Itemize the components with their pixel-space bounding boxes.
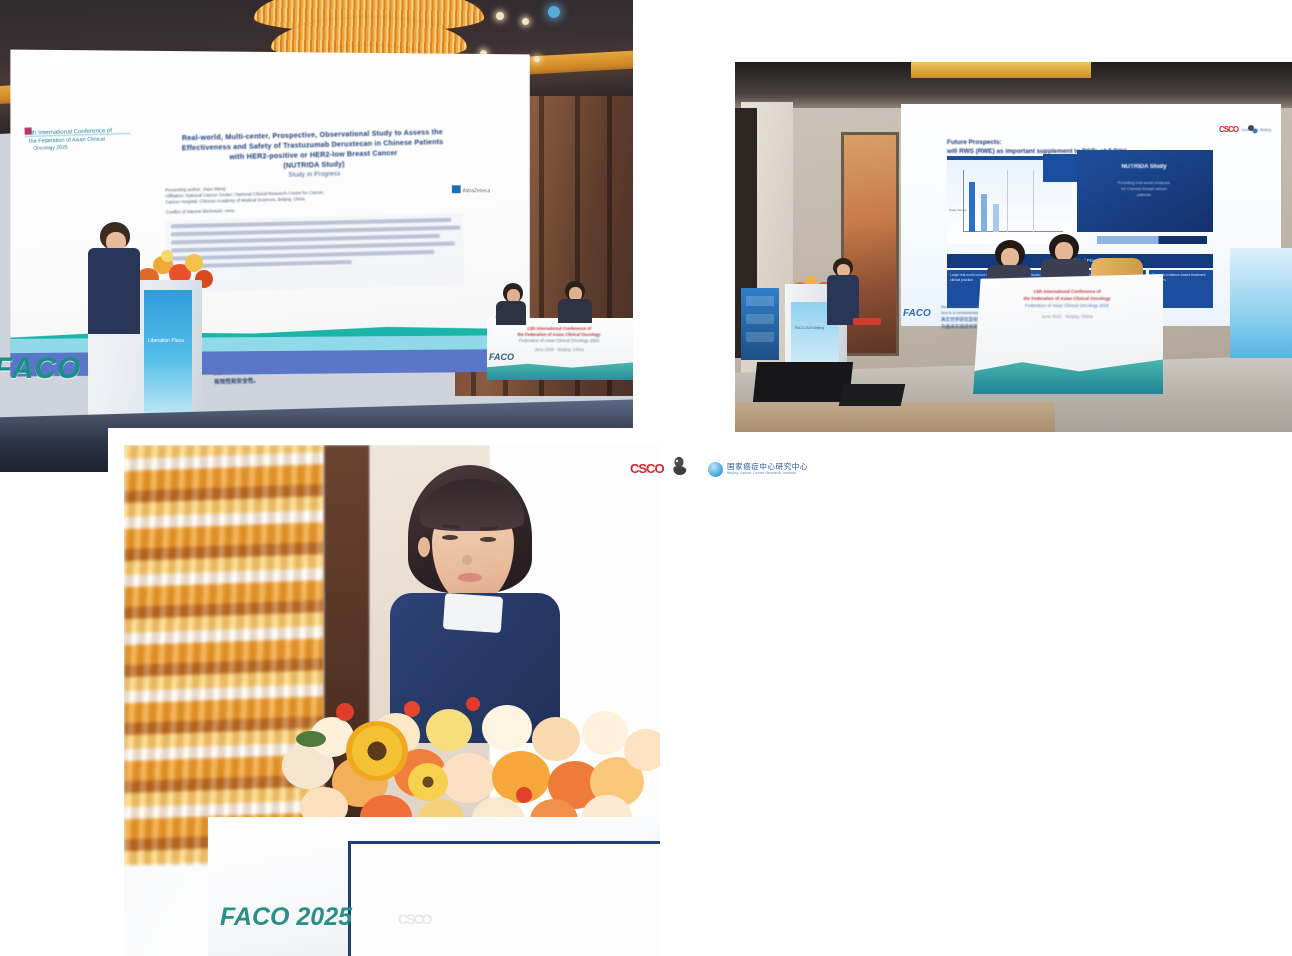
panel-table-2-wave bbox=[973, 352, 1163, 394]
svg-text:CSCO: CSCO bbox=[1219, 125, 1239, 134]
sunflower-small bbox=[408, 763, 448, 801]
lips bbox=[458, 573, 482, 582]
csco-wordmark-lectern: CSCO bbox=[398, 910, 468, 928]
ceiling-spot bbox=[522, 18, 529, 25]
lectern-panel: Liberation Plaza bbox=[144, 290, 192, 415]
slide-meta: Presenting author: Jiayu Wang Affiliatio… bbox=[165, 181, 464, 216]
photo-speaker-portrait: FACO 2025 CSCO bbox=[124, 445, 660, 956]
panelist-1 bbox=[496, 283, 526, 323]
highlight-subtitle: Providing real-world evidence for Chines… bbox=[1085, 180, 1203, 198]
lectern-panel-2-label: FACO 2025 Beijing bbox=[795, 326, 824, 330]
ceiling-spot bbox=[496, 12, 504, 20]
china-cancer-center-logo[interactable]: 国家癌症中心研究中心 Beijing Cancer Center Researc… bbox=[708, 462, 808, 477]
collage-canvas: 13th International Conference of the Fed… bbox=[0, 0, 1292, 956]
speaker-at-lectern bbox=[86, 222, 142, 332]
panel-table-2: 13th International Conference of the Fed… bbox=[973, 274, 1163, 394]
lectern-frame bbox=[348, 841, 660, 956]
eye-left bbox=[442, 535, 458, 540]
svg-text:the Federation of Asian Clinic: the Federation of Asian Clinical bbox=[29, 136, 105, 144]
ear bbox=[418, 537, 430, 557]
slide-title: Real-world, Multi-center, Prospective, O… bbox=[163, 127, 462, 184]
lectern-panel-label: Liberation Plaza bbox=[148, 338, 184, 344]
svg-text:AstraZeneca: AstraZeneca bbox=[463, 188, 491, 194]
eye-right bbox=[480, 537, 496, 542]
conference-logo-slide: 13th International Conference of the Fed… bbox=[24, 121, 137, 155]
panel-table: 13th International Conference of the Fed… bbox=[487, 318, 633, 380]
panelist-2 bbox=[558, 281, 592, 323]
faco-wordmark-screen-2: FACO bbox=[903, 308, 931, 319]
photo-stage-wide-view: Future Prospects: will RWS (RWE) as impo… bbox=[735, 62, 1292, 432]
carpet bbox=[735, 402, 1055, 432]
panel-table-banner: 13th International Conference of the Fed… bbox=[499, 326, 619, 353]
sunflower bbox=[346, 721, 408, 781]
panel-table-2-banner: 13th International Conference of the Fed… bbox=[989, 288, 1145, 320]
sponsor-logo-slide: AstraZeneca bbox=[452, 182, 491, 194]
faco-2025-wordmark: FACO 2025 bbox=[220, 903, 352, 932]
faco-wordmark-screen: FACO bbox=[0, 352, 81, 386]
csco-logo-slide: CSCO bbox=[1219, 122, 1259, 134]
speaker-stack bbox=[741, 288, 779, 360]
cancer-center-name-en: Beijing Cancer Center Research Institute bbox=[727, 472, 808, 475]
ceiling-light bbox=[911, 62, 1091, 78]
nose bbox=[462, 555, 472, 565]
stage-monitor-1 bbox=[753, 362, 853, 402]
globe-icon bbox=[708, 462, 723, 477]
csco-logo[interactable]: CSCO bbox=[630, 458, 686, 480]
highlight-title: NUTRIDA Study bbox=[1085, 164, 1203, 170]
svg-text:CSCO: CSCO bbox=[398, 911, 433, 927]
shirt-collar bbox=[443, 593, 503, 633]
chart-axis-label: Study Design bbox=[949, 208, 967, 212]
ceiling-spot bbox=[534, 56, 540, 62]
speaker-at-lectern-2 bbox=[827, 258, 859, 324]
slide-legend-bar bbox=[1097, 236, 1207, 244]
logo-row: CSCO 国家癌症中心研究中心 Beijing Cancer Center Re… bbox=[630, 452, 808, 486]
faco-wordmark-table: FACO bbox=[489, 352, 514, 362]
red-object bbox=[853, 318, 881, 325]
csco-wordmark: CSCO bbox=[630, 461, 664, 476]
csco-mark-icon bbox=[670, 456, 688, 476]
cancer-center-name-cn: 国家癌症中心研究中心 bbox=[727, 463, 808, 471]
ceiling-spot-blue bbox=[548, 6, 560, 18]
slide-mini-panel bbox=[1043, 154, 1077, 182]
lectern-3: FACO 2025 CSCO bbox=[208, 817, 660, 956]
slide-highlight-card: NUTRIDA Study Providing real-world evide… bbox=[1077, 150, 1213, 232]
svg-text:Oncology 2025: Oncology 2025 bbox=[33, 145, 68, 152]
stage-monitor-2 bbox=[839, 384, 906, 406]
side-banner bbox=[1230, 248, 1292, 358]
photo-conference-speaker-wide: 13th International Conference of the Fed… bbox=[0, 0, 633, 472]
